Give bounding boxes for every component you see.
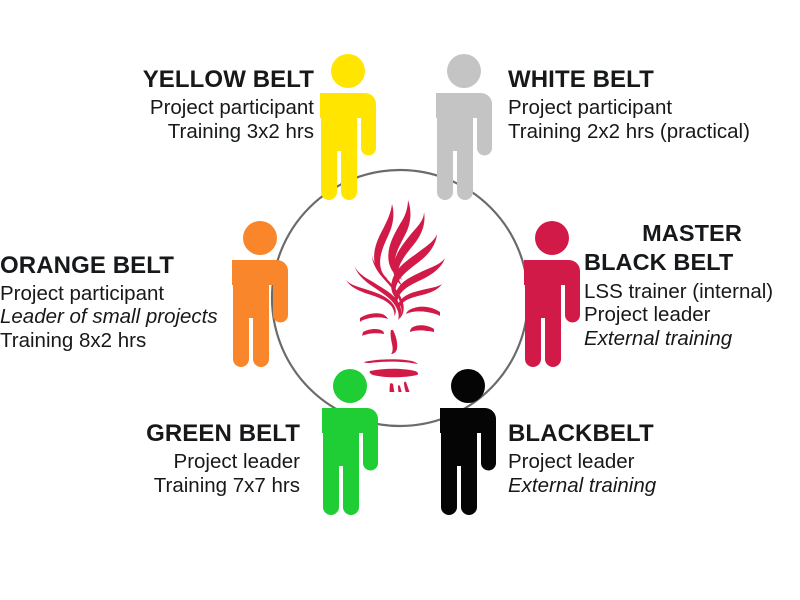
belt-label-black: BLACKBELT Project leader External traini… [508,420,800,497]
belt-title-black: BLACKBELT [508,420,800,448]
belt-detail-black-1: Project leader [508,450,800,474]
belt-detail-green-1: Project leader [0,450,300,474]
belt-label-white: WHITE BELT Project participant Training … [508,66,800,143]
belt-detail-orange-3: Training 8x2 hrs [0,329,223,353]
belt-label-orange: ORANGE BELT Project participant Leader o… [0,252,223,352]
belt-detail-yellow-2: Training 3x2 hrs [0,120,314,144]
belt-title-master-black-row1: MASTER [584,220,800,247]
belt-title-green: GREEN BELT [0,420,300,448]
belt-label-master-black: MASTER BLACK BELT LSS trainer (internal)… [584,220,800,351]
belt-label-green: GREEN BELT Project leader Training 7x7 h… [0,420,300,497]
belt-label-yellow: YELLOW BELT Project participant Training… [0,66,314,143]
belt-detail-master-3: External training [584,327,800,351]
person-figure-yellow [320,52,376,200]
flame-face-logo [330,196,470,392]
belt-detail-white-1: Project participant [508,96,800,120]
belt-detail-black-2: External training [508,474,800,498]
belt-detail-white-2: Training 2x2 hrs (practical) [508,120,800,144]
belt-title-yellow: YELLOW BELT [0,66,314,94]
belt-title-orange: ORANGE BELT [0,252,223,280]
person-figure-white [436,52,492,200]
belt-detail-master-1: LSS trainer (internal) [584,280,800,304]
belt-detail-green-2: Training 7x7 hrs [0,474,300,498]
belt-detail-yellow-1: Project participant [0,96,314,120]
person-figure-crimson [524,219,580,367]
belt-detail-orange-1: Project participant [0,282,223,306]
diagram-canvas: YELLOW BELT Project participant Training… [0,0,800,600]
belt-detail-master-2: Project leader [584,303,800,327]
belt-title-white: WHITE BELT [508,66,800,94]
belt-detail-orange-2: Leader of small projects [0,306,223,329]
belt-title-master-black-row2: BLACK BELT [584,249,800,276]
person-figure-orange [232,219,288,367]
